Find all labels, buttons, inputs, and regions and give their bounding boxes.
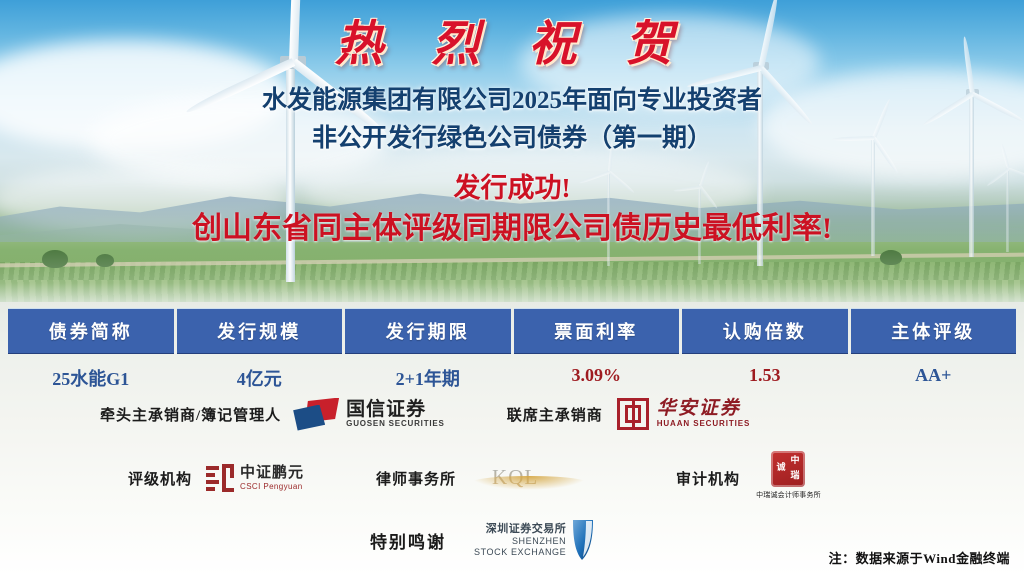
- csci-logo-cn: 中证鹏元: [240, 465, 304, 482]
- poster-root: 热 烈 祝 贺 水发能源集团有限公司2025年面向专业投资者 非公开发行绿色公司…: [0, 0, 1024, 576]
- zhongruicheng-caption: 中瑞诚会计师事务所: [756, 490, 821, 500]
- bond-subtitle-line1: 水发能源集团有限公司2025年面向专业投资者: [0, 82, 1024, 120]
- csci-pengyuan-logo: 中证鹏元 CSCI Pengyuan: [206, 464, 304, 492]
- bond-subtitle-line2: 非公开发行绿色公司债券（第一期）: [0, 120, 1024, 158]
- huaan-logo-en: HUAAN SECURITIES: [657, 420, 751, 429]
- lead-underwriter-label: 牵头主承销商/簿记管理人: [100, 404, 281, 425]
- bond-subtitle: 水发能源集团有限公司2025年面向专业投资者 非公开发行绿色公司债券（第一期）: [0, 82, 1024, 158]
- issuance-success-text: 发行成功!: [0, 166, 1024, 205]
- law-firm-label: 律师事务所: [376, 468, 456, 489]
- szse-logo-en-line2: STOCK EXCHANGE: [474, 547, 566, 558]
- huaan-mark-icon: [617, 398, 649, 430]
- special-thanks-label: 特别鸣谢: [370, 528, 446, 553]
- record-low-rate-text: 创山东省同主体评级同期限公司债历史最低利率!: [0, 203, 1024, 247]
- underwriter-row: 牵头主承销商/簿记管理人 国信证券 GUOSEN SECURITIES 联席主承…: [0, 392, 1024, 436]
- table-header-cell: 票面利率: [514, 308, 680, 354]
- szse-logo-en-line1: SHENZHEN: [474, 536, 566, 547]
- zhongruicheng-logo: 中 瑞 诚 中瑞诚会计师事务所: [756, 451, 821, 500]
- guosen-securities-logo: 国信证券 GUOSEN SECURITIES: [293, 398, 445, 431]
- seal-char-2: 瑞: [790, 471, 799, 480]
- seal-char-1: 中: [790, 456, 799, 465]
- szse-shield-icon: [570, 518, 596, 562]
- seal-char-3: 诚: [776, 463, 785, 472]
- guosen-logo-cn: 国信证券: [346, 400, 445, 420]
- joint-underwriter-label: 联席主承销商: [507, 404, 603, 425]
- guosen-mark-icon: [293, 398, 339, 431]
- huaan-securities-logo: 华安证券 HUAAN SECURITIES: [617, 398, 751, 430]
- kql-swoosh-icon: [470, 476, 588, 490]
- table-header-cell: 债券简称: [8, 308, 174, 354]
- zhongruicheng-seal-icon: 中 瑞 诚: [771, 451, 805, 487]
- grand-title: 热 烈 祝 贺: [0, 4, 1024, 74]
- data-source-note: 注：数据来源于Wind金融终端: [829, 548, 1010, 567]
- csci-logo-en: CSCI Pengyuan: [240, 482, 304, 491]
- szse-logo-cn: 深圳证券交易所: [474, 523, 566, 536]
- audit-agency-label: 审计机构: [676, 468, 740, 489]
- table-header-row: 债券简称 发行规模 发行期限 票面利率 认购倍数 主体评级: [8, 308, 1016, 354]
- table-header-cell: 发行期限: [345, 308, 511, 354]
- kql-law-firm-logo: KQL: [470, 463, 588, 493]
- service-providers-row: 评级机构 中证鹏元 CSCI Pengyuan 律师事务所 KQL 审计机构: [0, 452, 1024, 504]
- rating-agency-label: 评级机构: [128, 468, 192, 489]
- table-header-cell: 发行规模: [177, 308, 343, 354]
- bond-summary-table: 债券简称 发行规模 发行期限 票面利率 认购倍数 主体评级 25水能G1 4亿元…: [8, 308, 1016, 400]
- table-header-cell: 主体评级: [851, 308, 1017, 354]
- guosen-logo-en: GUOSEN SECURITIES: [346, 420, 445, 428]
- huaan-logo-cn: 华安证券: [657, 399, 751, 420]
- csci-mark-icon: [206, 464, 234, 492]
- photo-fade-overlay: [0, 250, 1024, 302]
- szse-logo: 深圳证券交易所 SHENZHEN STOCK EXCHANGE: [474, 518, 596, 562]
- table-header-cell: 认购倍数: [682, 308, 848, 354]
